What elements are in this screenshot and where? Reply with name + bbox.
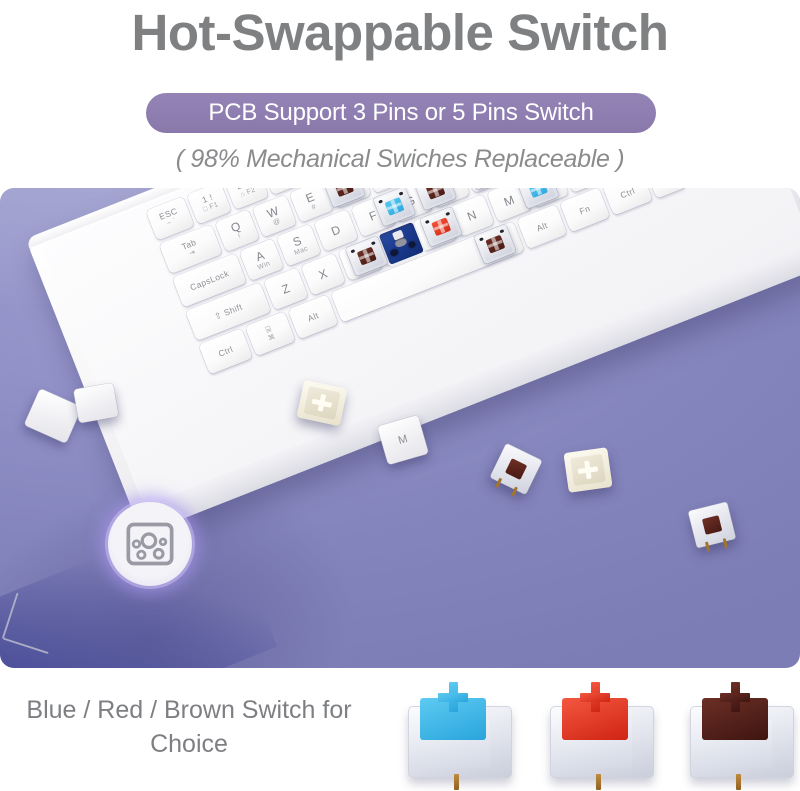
keycap-primary-legend: Alt — [306, 311, 320, 323]
subtitle: ( 98% Mechanical Swiches Replaceable ) — [0, 145, 800, 174]
switch-cross-stem — [580, 682, 610, 712]
keycap-primary-legend: Fn — [578, 204, 591, 216]
switch-pin — [722, 538, 728, 548]
switch-cross-stem — [720, 682, 750, 712]
red-switch-sample — [544, 680, 660, 784]
socket-pin-hole — [407, 240, 416, 249]
keycap-secondary-legend: ⇥ — [188, 249, 196, 258]
switch-pin — [454, 774, 459, 790]
socket-pin-hole — [390, 248, 399, 257]
flipped-keycap[interactable] — [563, 447, 612, 493]
keycap-primary-legend: ⇧ Shift — [213, 302, 244, 321]
keycap-primary-legend: Q — [229, 219, 243, 234]
keyboard-photo: ESC~ `1 !□ F12 @⌂ F23 #▣ F34 $▤ F45 %♫ F… — [0, 188, 800, 668]
product-infographic: Hot-Swappable Switch PCB Support 3 Pins … — [0, 0, 800, 791]
keycap-primary-legend: Z — [280, 282, 292, 297]
keycap-primary-legend: D — [330, 223, 343, 238]
keyboard-case: ESC~ `1 !□ F12 @⌂ F23 #▣ F34 $▤ F45 %♫ F… — [26, 188, 800, 535]
keycap-primary-legend: Alt — [535, 221, 549, 233]
pcb-socket-icon — [124, 518, 176, 570]
blue-switch-sample — [402, 680, 518, 784]
switch-pin — [736, 774, 741, 790]
keycap-secondary-legend: @ — [272, 218, 282, 228]
keycap-primary-legend: CapsLock — [189, 269, 230, 292]
switch-pin — [596, 774, 601, 790]
keycap-primary-legend: X — [317, 267, 329, 282]
switch-choice-caption: Blue / Red / Brown Switch for Choice — [14, 693, 364, 761]
stem-horizontal — [438, 693, 468, 702]
page-title: Hot-Swappable Switch — [0, 2, 800, 64]
switch-samples-row — [402, 672, 800, 791]
keycap-primary-legend: N — [466, 208, 479, 223]
switch-stem — [702, 515, 722, 535]
pcb-socket-badge — [108, 502, 192, 586]
pcb-support-badge: PCB Support 3 Pins or 5 Pins Switch — [146, 93, 656, 133]
stem-horizontal — [720, 693, 750, 702]
loose-switch[interactable] — [688, 502, 736, 549]
keycap-primary-legend: Ctrl — [217, 344, 234, 358]
switch-pin — [705, 542, 711, 552]
keycap-primary-legend: M — [502, 193, 516, 209]
loose-keycap[interactable] — [24, 388, 82, 443]
switch-cross-stem — [438, 682, 468, 712]
loose-keycap-legend: M — [397, 433, 409, 447]
brown-switch-sample — [684, 680, 800, 784]
keycap-secondary-legend: ⌘ — [267, 334, 276, 344]
loose-keycap[interactable] — [73, 383, 118, 423]
keycap-secondary-legend: ! — [237, 233, 242, 241]
keycap-secondary-legend: ~ ` — [166, 218, 177, 228]
keycap-primary-legend: Ctrl — [619, 188, 636, 200]
stem-horizontal — [580, 693, 610, 702]
switch-stem — [505, 458, 527, 480]
keycap-secondary-legend: # — [311, 203, 318, 211]
pcb-support-label: PCB Support 3 Pins or 5 Pins Switch — [208, 99, 593, 127]
